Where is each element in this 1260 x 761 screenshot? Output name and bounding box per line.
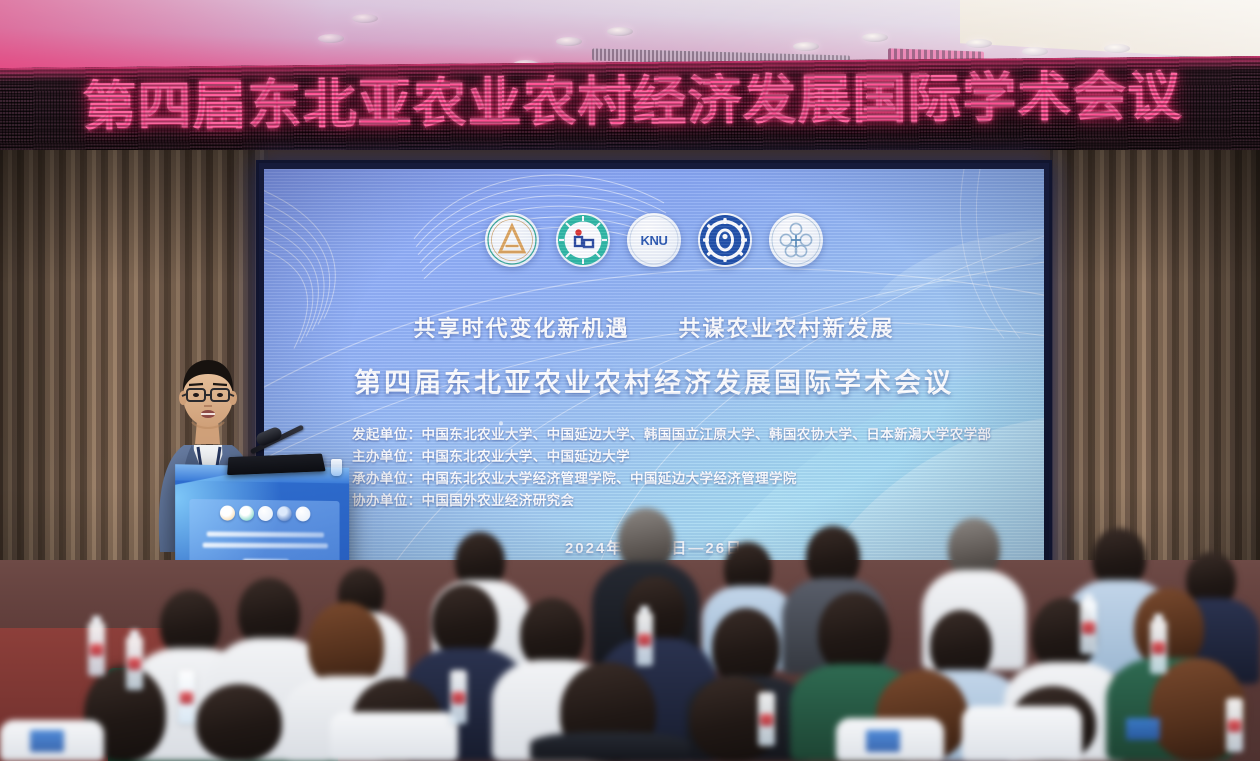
audience-head <box>712 608 780 686</box>
ceiling-downlight <box>1104 44 1130 53</box>
audience-head <box>432 584 498 658</box>
chair-back <box>962 706 1082 761</box>
chair-seat-tag <box>30 730 64 752</box>
neau-logo-glyph <box>485 213 539 267</box>
ybu-logo <box>556 213 610 267</box>
water-bottle-cap <box>640 606 649 613</box>
organizer-line-hosts: 主办单位：中国东北农业大学、中国延边大学 <box>352 446 1004 468</box>
water-bottle <box>1080 600 1097 654</box>
ceiling-downlight <box>556 37 582 46</box>
neau-logo <box>485 213 539 267</box>
slide-slogan-left: 共享时代变化新机遇 <box>413 311 629 343</box>
slide-title: 第四届东北亚农业农村经济发展国际学术会议 <box>264 361 1044 400</box>
water-bottle <box>1150 620 1167 674</box>
water-bottle <box>450 670 467 724</box>
niigata-university-logo <box>769 213 823 267</box>
knu-logo: KNU <box>627 213 681 267</box>
chair-seat-tag <box>866 730 900 752</box>
ceiling-downlight <box>318 34 344 43</box>
nonghyup-university-logo <box>698 213 752 267</box>
audience-body <box>530 732 690 761</box>
water-bottle <box>636 612 653 666</box>
ceiling-soffit <box>960 0 1260 60</box>
knu-logo-label: KNU <box>641 233 668 248</box>
audience-head <box>196 684 282 761</box>
ceiling-downlight <box>1022 47 1048 56</box>
ceiling-downlight <box>793 42 819 51</box>
audience-head <box>948 518 1000 578</box>
water-bottle-cap <box>1154 614 1163 621</box>
water-bottle-cap <box>92 616 101 623</box>
audience-head <box>818 592 890 674</box>
audience-head <box>1134 588 1204 668</box>
water-bottle-cap <box>130 630 139 637</box>
ceiling-downlight <box>607 27 633 36</box>
water-glass <box>331 459 342 476</box>
ceiling-downlight <box>352 14 378 23</box>
slide-slogan-right: 共谋农业农村新发展 <box>679 311 895 343</box>
slide-logo-row: KNU <box>264 213 1044 267</box>
water-bottle <box>126 636 143 690</box>
conference-photo: 第四届东北亚农业农村经济发展国际学术会议 <box>0 0 1260 761</box>
chair-seat-tag <box>1126 718 1160 740</box>
audience-head <box>1092 528 1146 588</box>
water-bottle-cap <box>1084 594 1093 601</box>
water-bottle <box>758 692 775 746</box>
chair-back <box>330 712 458 761</box>
organizer-line-initiators: 发起单位：中国东北农业大学、中国延边大学、韩国国立江原大学、韩国农协大学、日本新… <box>352 424 1004 446</box>
audience <box>0 480 1260 761</box>
water-bottle <box>178 670 195 724</box>
ceiling-downlight <box>966 39 992 48</box>
water-bottle <box>1226 698 1243 752</box>
ybu-logo-glyph <box>556 213 610 267</box>
ceiling-downlight <box>862 33 888 42</box>
slide-slogan: 共享时代变化新机遇 共谋农业农村新发展 <box>264 311 1044 343</box>
nonghyup-logo-glyph <box>698 213 752 267</box>
niigata-logo-glyph <box>769 213 823 267</box>
water-bottle <box>88 622 105 676</box>
led-banner-text: 第四届东北亚农业农村经济发展国际学术会议 <box>0 67 1260 138</box>
